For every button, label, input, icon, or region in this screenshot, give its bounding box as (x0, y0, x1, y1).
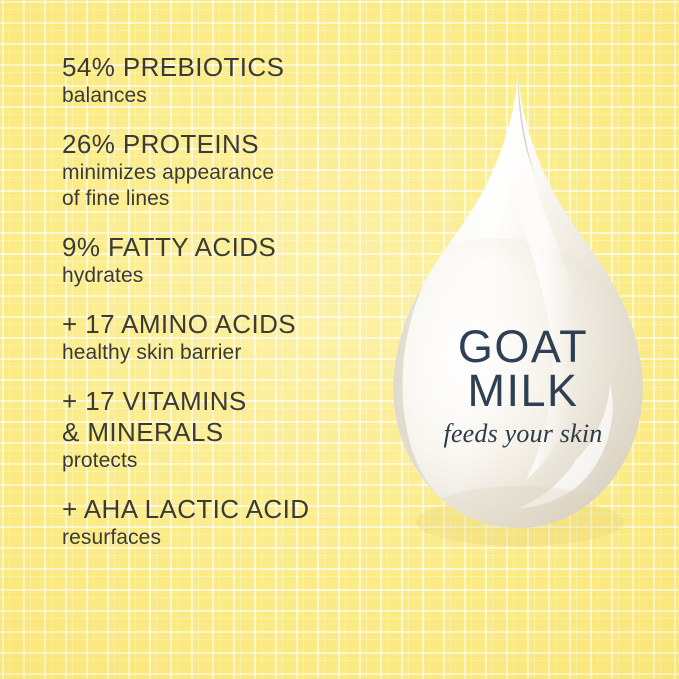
benefit-headline: 9% FATTY ACIDS (62, 232, 382, 263)
benefit-item-vitamins-minerals: + 17 VITAMINS & MINERALS protects (62, 386, 382, 474)
benefit-subtext: hydrates (62, 263, 382, 289)
benefit-subtext: protects (62, 448, 382, 474)
benefit-headline: 54% PREBIOTICS (62, 52, 382, 83)
benefit-item-prebiotics: 54% PREBIOTICS balances (62, 52, 382, 109)
brand-line-milk: MILK (380, 369, 666, 413)
benefit-subtext: healthy skin barrier (62, 340, 382, 366)
droplet-icon (380, 60, 666, 552)
benefit-subtext: balances (62, 83, 382, 109)
brand-tagline: feeds your skin (380, 417, 666, 451)
benefit-headline: + AHA LACTIC ACID (62, 494, 382, 525)
benefit-headline: + 17 AMINO ACIDS (62, 309, 382, 340)
benefit-item-proteins: 26% PROTEINS minimizes appearance of fin… (62, 129, 382, 212)
milk-droplet-illustration (380, 60, 666, 552)
benefit-item-fatty-acids: 9% FATTY ACIDS hydrates (62, 232, 382, 289)
benefits-list: 54% PREBIOTICS balances 26% PROTEINS min… (62, 52, 382, 551)
benefit-item-amino-acids: + 17 AMINO ACIDS healthy skin barrier (62, 309, 382, 366)
benefit-subtext: resurfaces (62, 525, 382, 551)
brand-line-goat: GOAT (380, 325, 666, 369)
droplet-text-block: GOAT MILK feeds your skin (380, 325, 666, 451)
benefit-item-aha-lactic-acid: + AHA LACTIC ACID resurfaces (62, 494, 382, 551)
product-infographic: 54% PREBIOTICS balances 26% PROTEINS min… (0, 0, 679, 679)
benefit-headline: + 17 VITAMINS & MINERALS (62, 386, 382, 448)
benefit-subtext: minimizes appearance of fine lines (62, 160, 382, 212)
benefit-headline: 26% PROTEINS (62, 129, 382, 160)
